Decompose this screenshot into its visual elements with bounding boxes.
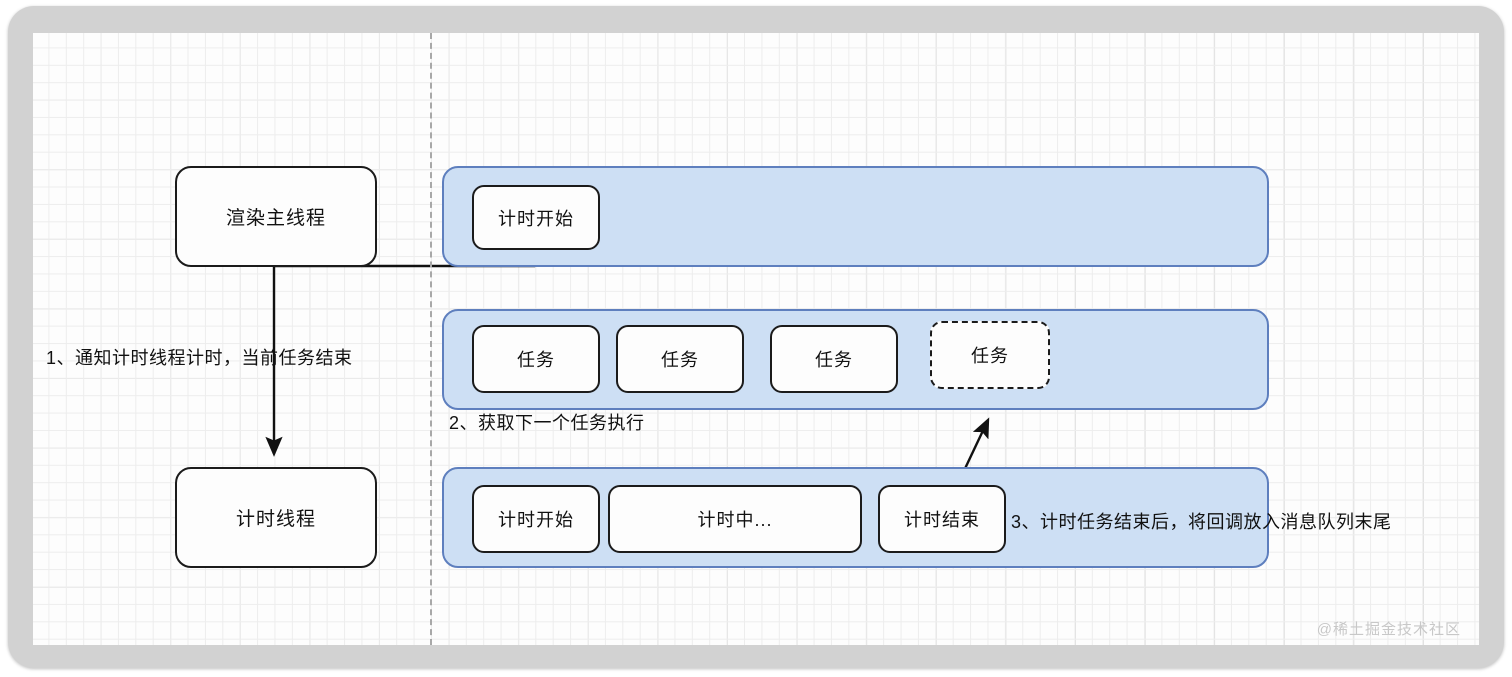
thread-box-timer-thread-label: 计时线程 [236,504,316,531]
thread-box-timer-thread[interactable]: 计时线程 [175,467,377,568]
watermark: @稀土掘金技术社区 [1317,618,1461,639]
box-task-4-pending-label: 任务 [971,342,1009,368]
box-task-4-pending[interactable]: 任务 [930,321,1050,389]
box-timer-start-label: 计时开始 [498,205,574,231]
thread-box-main-thread[interactable]: 渲染主线程 [175,166,377,267]
box-task-2-label: 任务 [661,346,699,372]
box-timer-start[interactable]: 计时开始 [472,185,600,250]
box-task-3[interactable]: 任务 [770,325,898,393]
box-task-1-label: 任务 [517,346,555,372]
annotation-step-3: 3、计时任务结束后，将回调放入消息队列末尾 [1011,508,1392,534]
box-timing-start[interactable]: 计时开始 [472,485,600,553]
diagram-canvas: 渲染主线程 计时线程 计时开始 任务 任务 任务 任务 计时开始 计时 [33,33,1479,645]
box-timing-running[interactable]: 计时中... [608,485,862,553]
screenshot-root: 渲染主线程 计时线程 计时开始 任务 任务 任务 任务 计时开始 计时 [0,0,1512,677]
box-task-2[interactable]: 任务 [616,325,744,393]
box-timing-end-label: 计时结束 [904,506,980,532]
box-timing-end[interactable]: 计时结束 [878,485,1006,553]
lane-divider [430,33,432,645]
thread-box-main-thread-label: 渲染主线程 [226,203,326,230]
box-task-3-label: 任务 [815,346,853,372]
box-timing-running-label: 计时中... [697,506,772,532]
annotation-step-2: 2、获取下一个任务执行 [449,409,645,435]
box-timing-start-label: 计时开始 [498,506,574,532]
box-task-1[interactable]: 任务 [472,325,600,393]
annotation-step-1: 1、通知计时线程计时，当前任务结束 [46,344,353,370]
